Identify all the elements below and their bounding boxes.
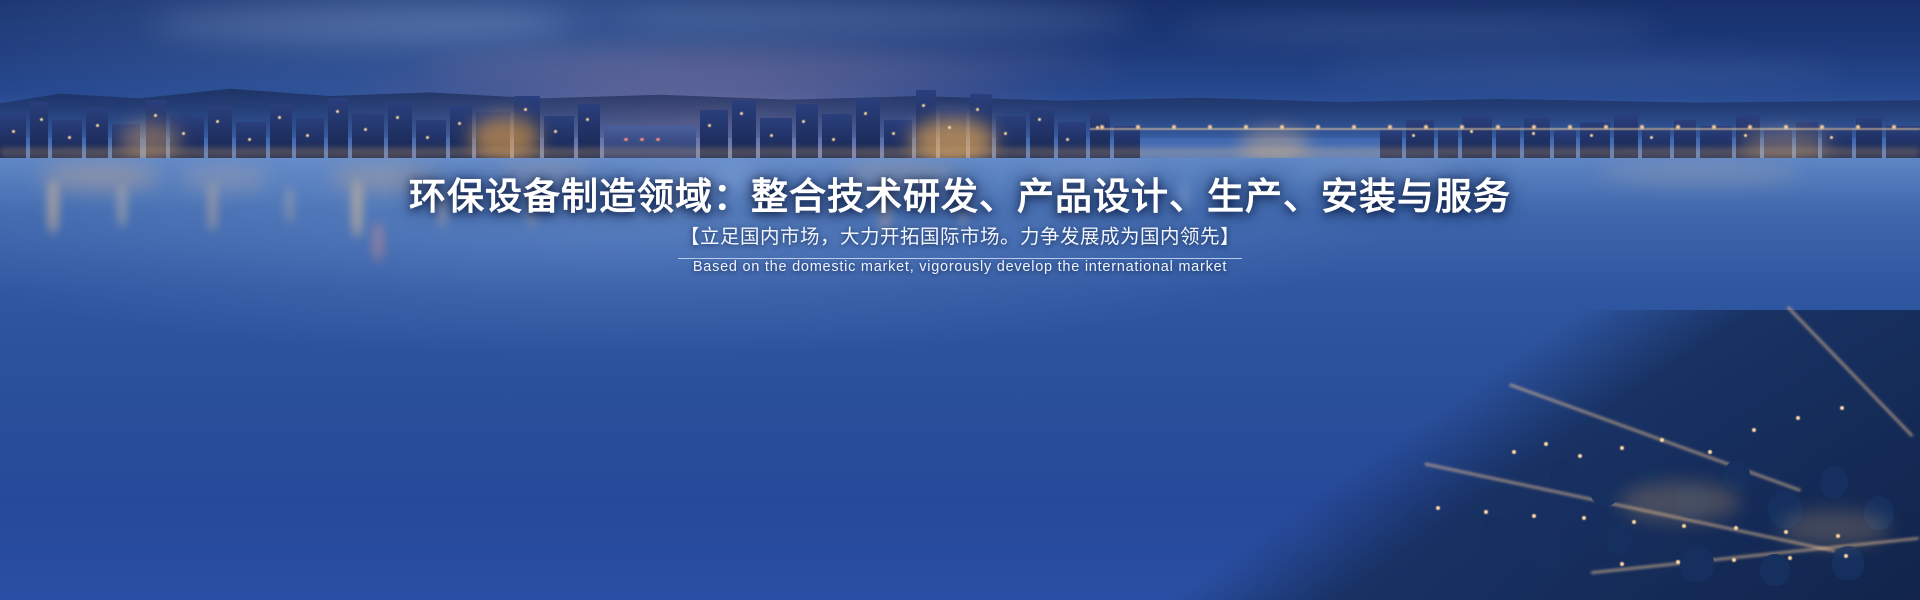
banner-subtitle: 【立足国内市场，大力开拓国际市场。力争发展成为国内领先】	[678, 220, 1242, 259]
hero-banner: 环保设备制造领域：整合技术研发、产品设计、生产、安装与服务 【立足国内市场，大力…	[0, 0, 1920, 600]
banner-title: 环保设备制造领域：整合技术研发、产品设计、生产、安装与服务	[0, 166, 1920, 220]
banner-subtitle-wrapper: 【立足国内市场，大力开拓国际市场。力争发展成为国内领先】	[0, 220, 1920, 259]
banner-english-tagline: Based on the domestic market, vigorously…	[0, 259, 1920, 275]
banner-text-overlay: 环保设备制造领域：整合技术研发、产品设计、生产、安装与服务 【立足国内市场，大力…	[0, 0, 1920, 600]
